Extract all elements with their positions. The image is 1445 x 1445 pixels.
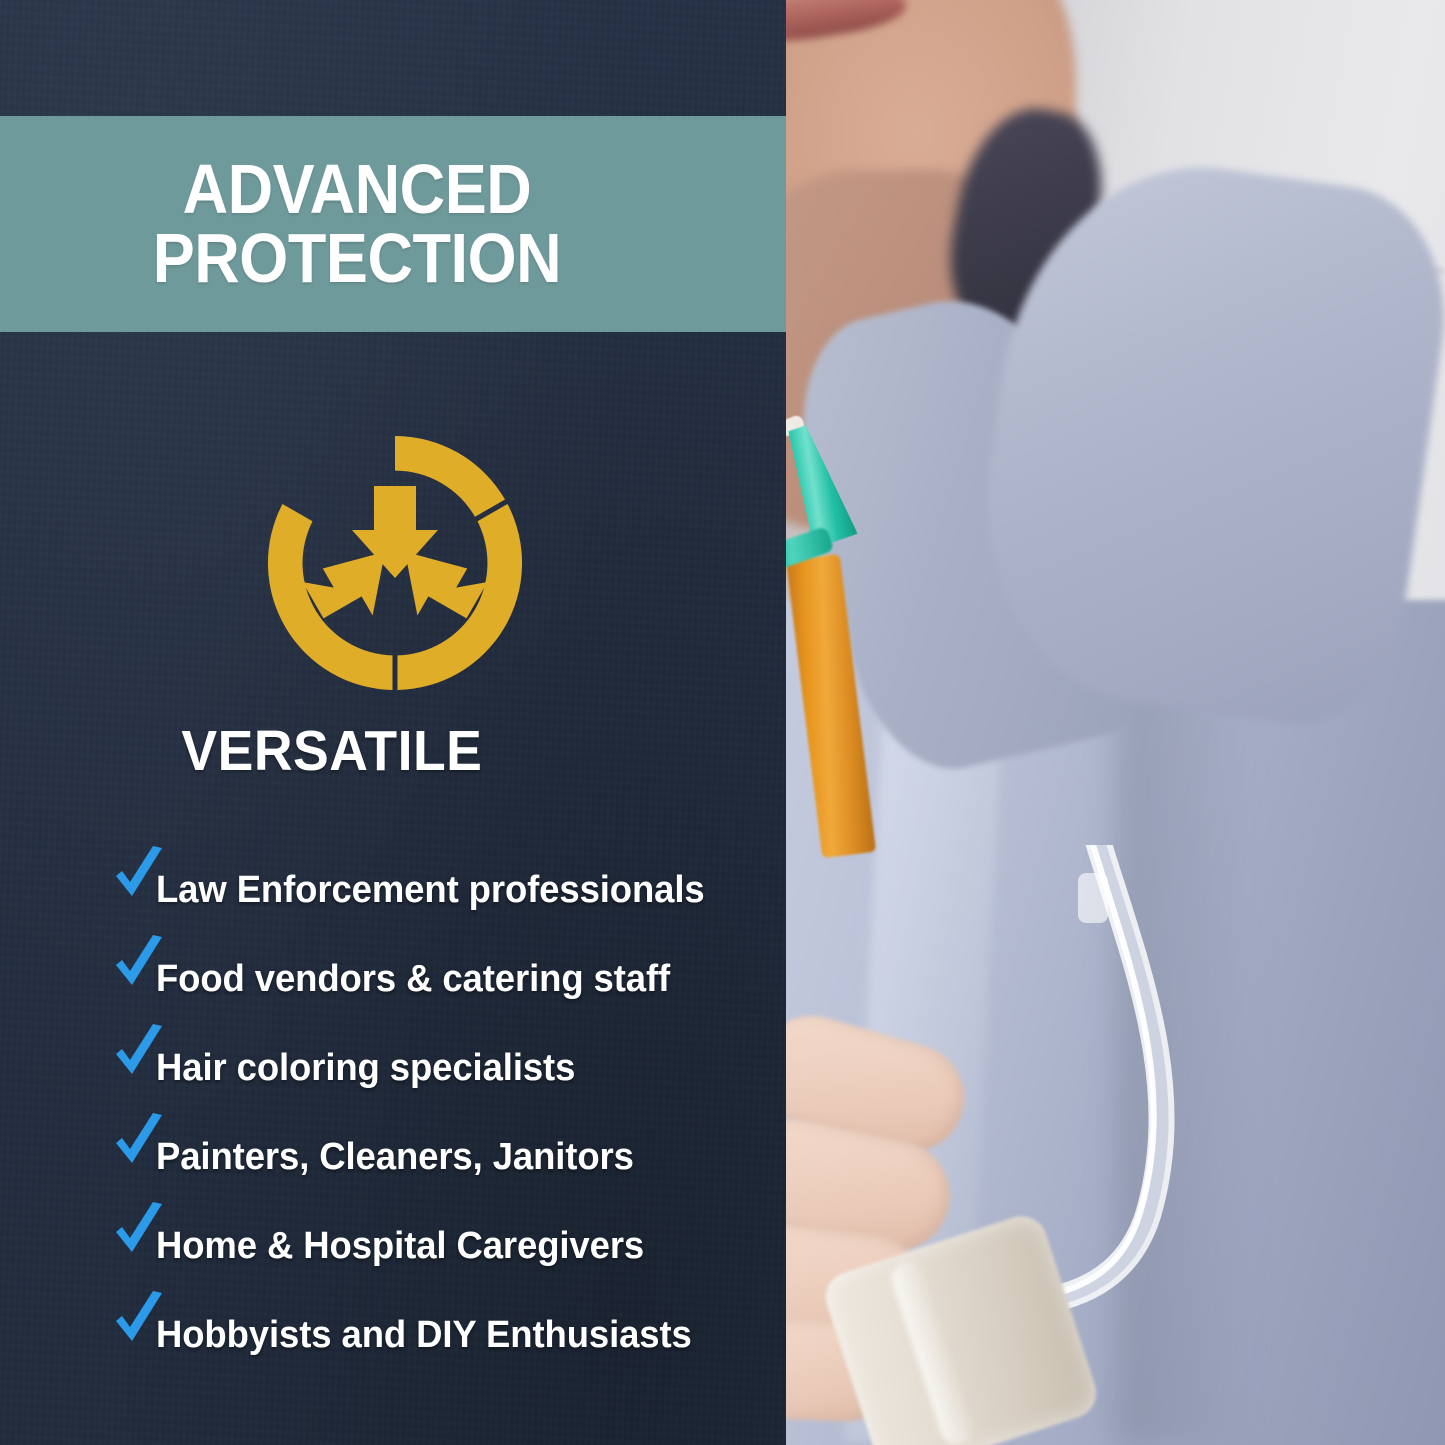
list-item: Hobbyists and DIY Enthusiasts [112, 1305, 772, 1365]
list-item-label: Law Enforcement professionals [156, 869, 705, 912]
list-item: Law Enforcement professionals [112, 860, 772, 920]
headline-line-2: PROTECTION [153, 224, 562, 293]
headline-line-1: ADVANCED [153, 155, 562, 224]
headline-text: ADVANCED PROTECTION [153, 155, 634, 292]
feature-label: VERSATILE [24, 718, 763, 784]
list-item: Painters, Cleaners, Janitors [112, 1127, 772, 1187]
product-photo [786, 0, 1445, 1445]
shirt-fold [1116, 640, 1246, 1445]
audience-checklist: Law Enforcement professionals Food vendo… [112, 860, 772, 1394]
list-item: Home & Hospital Caregivers [112, 1216, 772, 1276]
list-item: Food vendors & catering staff [112, 949, 772, 1009]
list-item-label: Hair coloring specialists [156, 1047, 575, 1090]
list-item-label: Home & Hospital Caregivers [156, 1225, 644, 1268]
versatile-cycle-icon [262, 430, 528, 696]
product-feature-graphic: VERSATILE Law Enforcement professionals … [0, 0, 1445, 1445]
headline-banner: ADVANCED PROTECTION [0, 116, 786, 332]
list-item-label: Food vendors & catering staff [156, 958, 670, 1001]
list-item-label: Painters, Cleaners, Janitors [156, 1136, 634, 1179]
list-item: Hair coloring specialists [112, 1038, 772, 1098]
list-item-label: Hobbyists and DIY Enthusiasts [156, 1314, 692, 1357]
